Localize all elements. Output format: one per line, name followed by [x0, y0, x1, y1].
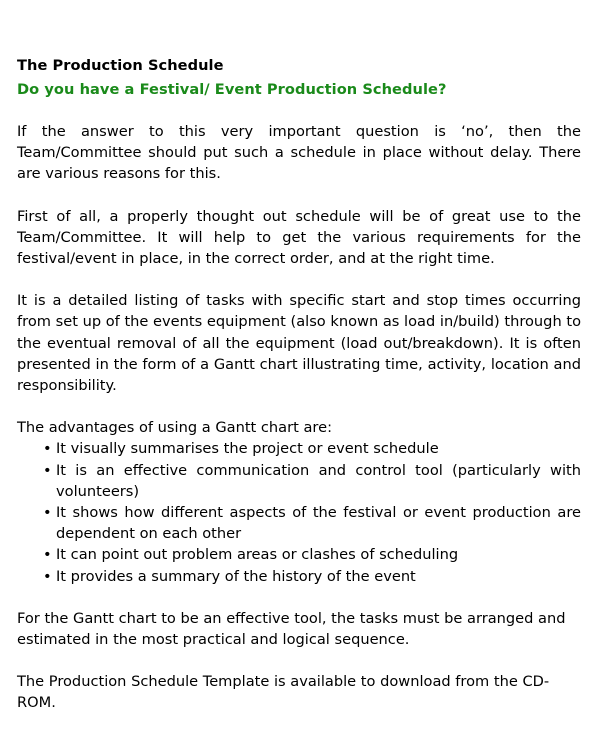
section-heading-question: Do you have a Festival/ Event Production… — [17, 80, 581, 100]
paragraph-answer-intro: If the answer to this very important que… — [17, 121, 581, 185]
bullet-icon: • — [43, 460, 52, 481]
list-item-label: It can point out problem areas or clashe… — [56, 546, 458, 563]
list-item: •It shows how different aspects of the f… — [17, 502, 581, 544]
paragraph-first-of-all: First of all, a properly thought out sch… — [17, 206, 581, 270]
document-page: The Production Schedule Do you have a Fe… — [0, 0, 600, 730]
document-body: The Production Schedule Do you have a Fe… — [17, 56, 581, 714]
list-item: •It can point out problem areas or clash… — [17, 544, 581, 565]
list-item-label: It provides a summary of the history of … — [56, 568, 416, 585]
list-item-label: It shows how different aspects of the fe… — [56, 504, 581, 542]
bullet-icon: • — [43, 502, 52, 523]
advantages-bullet-list: •It visually summarises the project or e… — [17, 438, 581, 586]
paragraph-template-download: The Production Schedule Template is avai… — [17, 671, 581, 713]
list-item: •It provides a summary of the history of… — [17, 566, 581, 587]
bullet-icon: • — [43, 566, 52, 587]
bullet-icon: • — [43, 544, 52, 565]
bullet-icon: • — [43, 438, 52, 459]
list-item-label: It visually summarises the project or ev… — [56, 440, 439, 457]
page-title: The Production Schedule — [17, 56, 581, 76]
list-item: •It is an effective communication and co… — [17, 460, 581, 502]
paragraph-effective-tool: For the Gantt chart to be an effective t… — [17, 608, 581, 650]
list-item: •It visually summarises the project or e… — [17, 438, 581, 459]
paragraph-advantages-lead-in: The advantages of using a Gantt chart ar… — [17, 417, 581, 438]
list-item-label: It is an effective communication and con… — [56, 462, 581, 500]
paragraph-detailed-listing: It is a detailed listing of tasks with s… — [17, 290, 581, 396]
